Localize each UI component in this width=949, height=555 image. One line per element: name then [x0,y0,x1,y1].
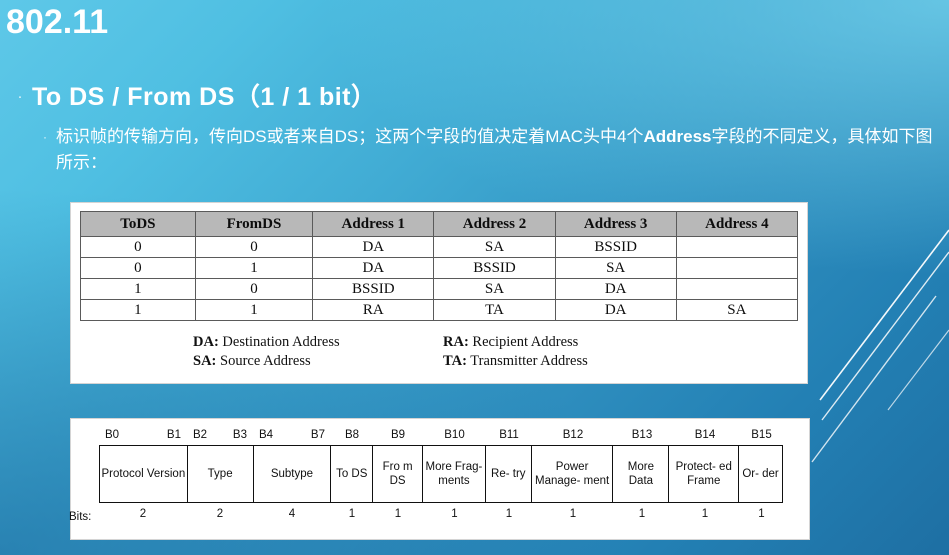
table-cell: 0 [81,237,196,258]
bullet-marker-icon: · [34,124,56,150]
bit-index-cell: B8 [331,425,373,445]
bullet-text-bold: Address [643,127,711,146]
legend-text: Transmitter Address [467,353,588,369]
bit-count-cell: 1 [331,503,373,525]
frame-control-field-label: Fro m DS [374,460,421,488]
page-title: 802.11 [6,2,108,43]
bit-index-cell: B0B1 [99,425,187,445]
bit-count-cell: 1 [670,503,740,525]
legend-abbr: TA: [443,353,467,369]
bit-index-cell: B2B3 [187,425,253,445]
frame-control-field-label: More Frag- ments [424,460,484,488]
legend-item: TA: Transmitter Address [443,352,693,371]
table-header-cell: Address 2 [434,212,555,237]
table-cell: BSSID [313,279,434,300]
address-table-panel: ToDSFromDSAddress 1Address 2Address 3Add… [70,202,808,384]
bit-index-label: B11 [486,429,532,441]
bit-index-label: B2 [193,429,207,441]
legend-item: DA: Destination Address [193,333,443,352]
bullet-level-2: · 标识帧的传输方向，传向DS或者来自DS；这两个字段的值决定着MAC头中4个A… [34,124,949,176]
address-mapping-table: ToDSFromDSAddress 1Address 2Address 3Add… [80,211,798,321]
table-cell: DA [555,300,676,321]
bit-count-cell: 1 [740,503,783,525]
table-cell: DA [313,237,434,258]
bullet-text-part-1: 标识帧的传输方向，传向DS或者来自DS；这两个字段的值决定着MAC头中4个 [56,127,643,146]
bit-count-cell: 2 [187,503,253,525]
bit-index-cell: B11 [486,425,532,445]
table-cell: 1 [81,300,196,321]
frame-control-field-label: Or- der [742,467,778,481]
bit-index-label: B0 [105,429,119,441]
table-cell: SA [434,279,555,300]
table-cell: 0 [195,279,312,300]
frame-control-panel: B0B1B2B3B4B7B8B9B10B11B12B13B14B15 Proto… [70,418,810,540]
frame-control-field: To DS [331,446,373,502]
table-cell: TA [434,300,555,321]
bit-index-row: B0B1B2B3B4B7B8B9B10B11B12B13B14B15 [99,425,783,445]
frame-control-field-label: Subtype [271,467,313,481]
frame-control-field: Protect- ed Frame [669,446,739,502]
table-row: 10BSSIDSADA [81,279,798,300]
bit-index-label: B4 [259,429,273,441]
frame-control-field: Subtype [254,446,332,502]
frame-control-fields-row: Protocol VersionTypeSubtypeTo DSFro m DS… [99,445,783,503]
table-header-cell: Address 3 [555,212,676,237]
bit-count-cell: 1 [532,503,614,525]
legend-item: SA: Source Address [193,352,443,371]
legend-text: Destination Address [219,334,340,350]
frame-control-field: Power Manage- ment [532,446,614,502]
table-row: 11RATADASA [81,300,798,321]
bit-index-cell: B14 [670,425,740,445]
frame-control-field: More Data [613,446,669,502]
bits-label: Bits: [69,511,91,523]
bit-count-cell: 1 [423,503,486,525]
bit-count-cell: 1 [486,503,532,525]
table-cell: SA [555,258,676,279]
table-row: 00DASABSSID [81,237,798,258]
frame-control-diagram: B0B1B2B3B4B7B8B9B10B11B12B13B14B15 Proto… [99,425,783,525]
bullet-level-1: · To DS / From DS（1 / 1 bit） [8,82,377,112]
table-cell: DA [555,279,676,300]
bit-index-label: B13 [614,429,670,441]
frame-control-field: Re- try [486,446,532,502]
table-header-cell: FromDS [195,212,312,237]
table-cell: SA [434,237,555,258]
frame-control-field-label: More Data [614,460,667,488]
bit-index-label: B1 [167,429,181,441]
legend-text: Source Address [216,353,310,369]
table-cell: 1 [195,258,312,279]
bit-index-cell: B4B7 [253,425,331,445]
table-cell: 1 [195,300,312,321]
legend-abbr: SA: [193,353,216,369]
bit-index-label: B9 [373,429,423,441]
bit-count-cell: 2 [99,503,187,525]
table-cell: RA [313,300,434,321]
legend-text: Recipient Address [469,334,579,350]
bit-index-label: B14 [670,429,740,441]
bit-index-cell: B12 [532,425,614,445]
bit-index-cell: B10 [423,425,486,445]
table-cell [676,279,797,300]
address-legend: DA: Destination AddressSA: Source Addres… [71,333,807,371]
legend-abbr: RA: [443,334,469,350]
bit-index-label: B8 [331,429,373,441]
table-cell [676,258,797,279]
bullet-level-1-label: To DS / From DS（1 / 1 bit） [32,82,377,112]
frame-control-field-label: Re- try [491,467,526,481]
frame-control-field-label: Protocol Version [101,467,185,481]
frame-control-field: Type [188,446,254,502]
bit-count-cell: 1 [373,503,423,525]
table-header-row: ToDSFromDSAddress 1Address 2Address 3Add… [81,212,798,237]
bit-index-label: B7 [311,429,325,441]
table-row: 01DABSSIDSA [81,258,798,279]
bit-index-label: B10 [423,429,486,441]
table-header-cell: Address 4 [676,212,797,237]
table-cell [676,237,797,258]
table-cell: 0 [195,237,312,258]
table-header-cell: ToDS [81,212,196,237]
frame-control-field: Fro m DS [373,446,423,502]
bullet-level-2-label: 标识帧的传输方向，传向DS或者来自DS；这两个字段的值决定着MAC头中4个Add… [56,124,936,176]
table-cell: DA [313,258,434,279]
bit-index-cell: B13 [614,425,670,445]
frame-control-field-label: Type [208,467,233,481]
bit-count-cell: 4 [253,503,331,525]
legend-column-right: RA: Recipient AddressTA: Transmitter Add… [443,333,693,371]
table-cell: BSSID [555,237,676,258]
table-cell: 1 [81,279,196,300]
bit-count-cell: 1 [614,503,670,525]
frame-control-field-label: Protect- ed Frame [670,460,737,488]
frame-control-field-label: To DS [336,467,367,481]
bit-index-cell: B15 [740,425,783,445]
table-cell: 0 [81,258,196,279]
frame-control-field-label: Power Manage- ment [533,460,612,488]
table-header-cell: Address 1 [313,212,434,237]
bit-index-cell: B9 [373,425,423,445]
legend-abbr: DA: [193,334,219,350]
bit-index-label: B15 [740,429,783,441]
frame-control-field: Protocol Version [100,446,188,502]
bit-index-label: B3 [233,429,247,441]
table-cell: BSSID [434,258,555,279]
bullet-marker-icon: · [8,82,32,112]
frame-control-field: More Frag- ments [423,446,486,502]
frame-control-field: Or- der [739,446,782,502]
table-cell: SA [676,300,797,321]
bit-count-row: 22411111111 [99,503,783,525]
legend-column-left: DA: Destination AddressSA: Source Addres… [193,333,443,371]
bit-index-label: B12 [532,429,614,441]
legend-item: RA: Recipient Address [443,333,693,352]
